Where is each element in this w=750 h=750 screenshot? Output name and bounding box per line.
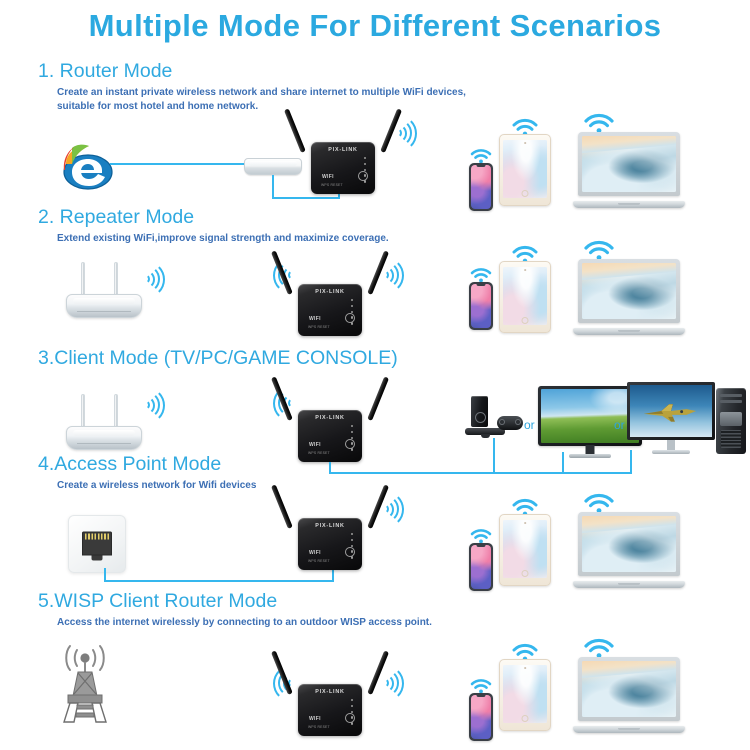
extender-brand-label: PIX-LINK <box>298 415 362 421</box>
or-label-2: or <box>614 418 625 432</box>
wifi-badge-laptop <box>584 493 614 514</box>
client-device-desktop-tower <box>716 388 746 454</box>
pix-link-extender-client-mode: PIX-LINK WIFI WPS RESET <box>282 376 378 462</box>
pix-link-extender-repeater-mode: PIX-LINK WIFI WPS RESET <box>282 250 378 336</box>
client-device-smartphone <box>469 693 493 741</box>
wifi-arcs-router-client <box>140 382 170 428</box>
section-heading-client-mode: 3.Client Mode (TV/PC/GAME CONSOLE) <box>38 347 398 370</box>
game-controller-icon <box>497 416 523 430</box>
extender-body: PIX-LINK WIFI WPS RESET <box>298 684 362 736</box>
client-device-tablet <box>499 134 551 206</box>
antenna-right-icon <box>367 376 389 421</box>
wifi-badge-phone <box>470 267 492 283</box>
client-device-laptop <box>573 259 685 335</box>
client-device-laptop <box>573 512 685 588</box>
section-description-repeater-mode: Extend existing WiFi,improve signal stre… <box>57 232 389 246</box>
extender-brand-label: PIX-LINK <box>298 289 362 295</box>
extender-wifi-label: WIFI <box>309 442 321 448</box>
wifi-badge-laptop <box>584 113 614 134</box>
wifi-badge-laptop <box>584 638 614 659</box>
internet-explorer-icon <box>58 140 114 192</box>
extender-brand-label: PIX-LINK <box>298 523 362 529</box>
cable-internet-to-modem <box>110 163 246 165</box>
wps-button[interactable] <box>345 313 355 323</box>
client-device-smartphone <box>469 543 493 591</box>
pix-link-extender-access-point-mode: PIX-LINK WIFI WPS RESET <box>282 484 378 570</box>
client-device-tablet <box>499 514 551 586</box>
wifi-badge-laptop <box>584 240 614 261</box>
extender-wifi-label: WIFI <box>309 716 321 722</box>
client-device-game-console <box>465 396 521 438</box>
client-device-smartphone <box>469 282 493 330</box>
section-description-wisp-client-router-mode: Access the internet wirelessly by connec… <box>57 616 432 630</box>
wifi-badge-phone <box>470 678 492 694</box>
wifi-arcs-router-repeater <box>140 256 170 302</box>
extender-body: PIX-LINK WIFI WPS RESET <box>298 518 362 570</box>
cable-modem-drop <box>272 175 274 199</box>
section-description-access-point-mode: Create a wireless network for Wifi devic… <box>57 479 256 493</box>
extender-wifi-label: WIFI <box>309 550 321 556</box>
infographic-page: Multiple Mode For Different Scenarios 1.… <box>0 0 750 750</box>
wifi-arcs-extender-outgoing-repeater <box>379 252 409 298</box>
section-heading-wisp-client-router-mode: 5.WISP Client Router Mode <box>38 590 277 613</box>
client-device-laptop <box>573 657 685 733</box>
client-device-laptop <box>573 132 685 208</box>
extender-sub-label: WPS RESET <box>308 725 330 729</box>
client-device-smartphone <box>469 163 493 211</box>
rj45-port-icon <box>82 532 112 556</box>
client-device-tablet <box>499 659 551 731</box>
section-description-router-mode-line1: Create an instant private wireless netwo… <box>57 86 466 100</box>
page-title: Multiple Mode For Different Scenarios <box>0 8 750 44</box>
extender-sub-label: WPS RESET <box>308 325 330 329</box>
extender-wifi-label: WIFI <box>309 316 321 322</box>
pix-link-extender-wisp-mode: PIX-LINK WIFI WPS RESET <box>282 650 378 736</box>
extender-body: PIX-LINK WIFI WPS RESET <box>298 284 362 336</box>
section-description-router-mode-line2: suitable for most hotel and home network… <box>57 100 258 114</box>
cable-modem-to-extender-run <box>272 197 340 199</box>
client-device-tablet <box>499 261 551 333</box>
cable-jack-to-extender-run <box>104 580 334 582</box>
wifi-badge-phone <box>470 528 492 544</box>
extender-sub-label: WPS RESET <box>321 183 343 187</box>
antenna-left-icon <box>271 484 293 529</box>
wifi-arcs-extender-outgoing-wisp <box>379 660 409 706</box>
jet-wallpaper-icon <box>640 398 702 427</box>
source-ethernet-wall-jack <box>68 515 126 573</box>
pix-link-extender-router-mode: PIX-LINK WIFI WPS RESET <box>295 108 391 194</box>
extender-sub-label: WPS RESET <box>308 559 330 563</box>
extender-body: PIX-LINK WIFI WPS RESET <box>311 142 375 194</box>
extender-wifi-label: WIFI <box>322 174 334 180</box>
extender-brand-label: PIX-LINK <box>298 689 362 695</box>
source-wisp-antenna-tower <box>48 642 122 726</box>
extender-brand-label: PIX-LINK <box>311 147 375 153</box>
antenna-left-icon <box>284 108 306 153</box>
wps-button[interactable] <box>358 171 368 181</box>
cable-client-bus <box>329 472 632 474</box>
modem-device <box>244 158 302 175</box>
wifi-broadcast-arcs-right <box>392 110 422 156</box>
section-heading-repeater-mode: 2. Repeater Mode <box>38 206 194 229</box>
section-heading-router-mode: 1. Router Mode <box>38 60 172 83</box>
wps-button[interactable] <box>345 713 355 723</box>
client-device-pc-monitor <box>627 382 715 454</box>
cable-to-game-console <box>493 438 495 473</box>
section-heading-access-point-mode: 4.Access Point Mode <box>38 453 221 476</box>
wps-button[interactable] <box>345 547 355 557</box>
wifi-badge-phone <box>470 148 492 164</box>
extender-body: PIX-LINK WIFI WPS RESET <box>298 410 362 462</box>
or-label-1: or <box>524 418 535 432</box>
wps-button[interactable] <box>345 439 355 449</box>
extender-sub-label: WPS RESET <box>308 451 330 455</box>
wifi-arcs-extender-outgoing-ap <box>379 486 409 532</box>
